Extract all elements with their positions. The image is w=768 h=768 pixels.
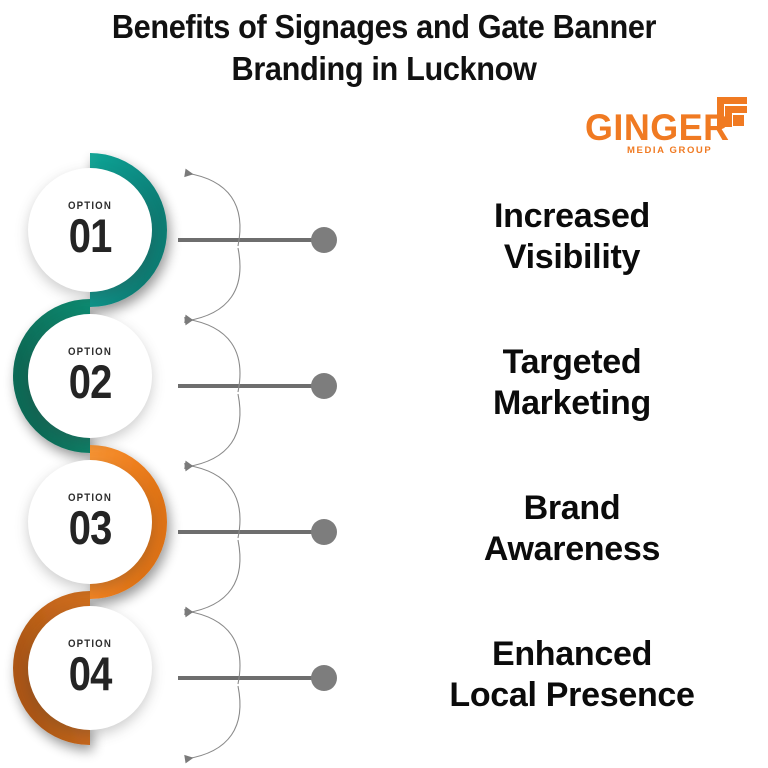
connector-dot-3 — [311, 519, 337, 545]
logo-wordmark: GINGER — [585, 107, 729, 149]
step-label-1: Increased Visibility — [407, 196, 737, 279]
connector-line-1 — [178, 238, 318, 242]
step-number: 02 — [69, 359, 112, 405]
step-number: 03 — [69, 505, 112, 551]
nested-squares-icon — [713, 97, 747, 129]
step-number: 01 — [69, 213, 112, 259]
step-node-4[interactable]: OPTION 04 — [28, 606, 152, 730]
step-number: 04 — [69, 651, 112, 697]
connector-dot-1 — [311, 227, 337, 253]
step-label-4: Enhanced Local Presence — [407, 634, 737, 717]
step-node-1[interactable]: OPTION 01 — [28, 168, 152, 292]
step-node-3[interactable]: OPTION 03 — [28, 460, 152, 584]
logo-tagline: MEDIA GROUP — [627, 145, 712, 156]
connector-dot-4 — [311, 665, 337, 691]
connector-dot-2 — [311, 373, 337, 399]
ginger-media-group-logo: GINGER MEDIA GROUP — [585, 97, 745, 159]
infographic-page: Benefits of Signages and Gate Banner Bra… — [0, 0, 768, 768]
step-label-3: Brand Awareness — [407, 488, 737, 571]
connector-line-2 — [178, 384, 318, 388]
page-title: Benefits of Signages and Gate Banner Bra… — [40, 6, 728, 90]
step-label-2: Targeted Marketing — [407, 342, 737, 425]
step-node-2[interactable]: OPTION 02 — [28, 314, 152, 438]
connector-line-3 — [178, 530, 318, 534]
connector-line-4 — [178, 676, 318, 680]
